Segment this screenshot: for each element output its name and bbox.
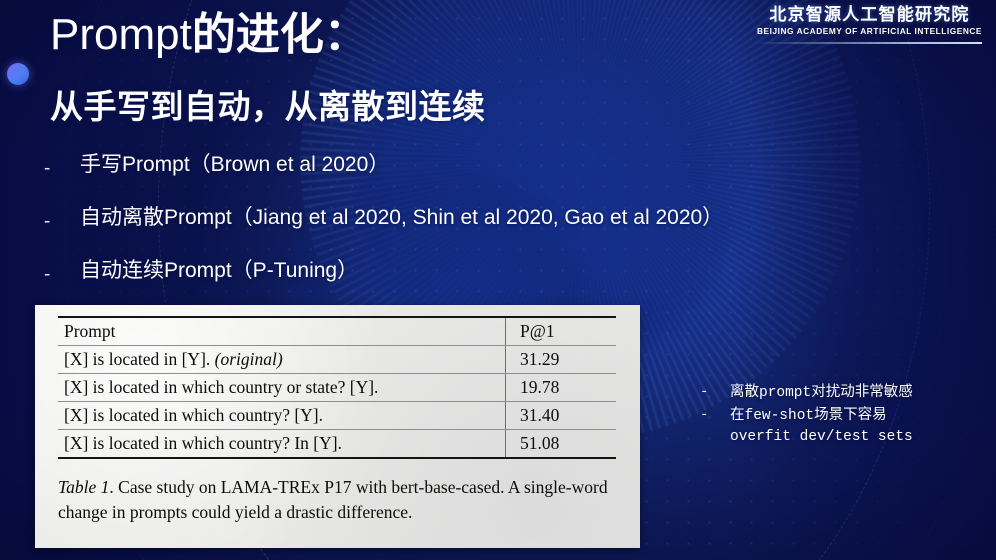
org-logo: 北京智源人工智能研究院 BEIJING ACADEMY OF ARTIFICIA…	[757, 6, 982, 35]
list-item: - 自动连续Prompt（P-Tuning）	[44, 256, 764, 309]
annotation-item: - 离散prompt对扰动非常敏感	[700, 383, 990, 404]
table-row: [X] is located in [Y]. (original) 31.29	[58, 346, 616, 374]
bullet-list: - 手写Prompt（Brown et al 2020） - 自动离散Promp…	[44, 150, 764, 309]
bullet-dash-marker: -	[44, 158, 50, 180]
table-row: [X] is located in which country or state…	[58, 374, 616, 402]
cell-prompt-text: [X] is located in which country? [Y].	[64, 405, 323, 425]
org-logo-chinese: 北京智源人工智能研究院	[757, 6, 982, 23]
column-header-p-at-1: P@1	[506, 317, 617, 346]
cell-prompt-text: [X] is located in which country or state…	[64, 377, 378, 397]
caption-label: Table 1	[58, 477, 109, 497]
accent-dot-decoration	[7, 63, 29, 85]
annotation-item: - 在few-shot场景下容易 overfit dev/test sets	[700, 406, 990, 448]
bullet-dash-marker: -	[44, 264, 50, 286]
list-item: - 手写Prompt（Brown et al 2020）	[44, 150, 764, 203]
annotation-text: 在few-shot场景下容易 overfit dev/test sets	[700, 406, 990, 448]
logo-underline-rule	[752, 42, 982, 44]
bullet-text: 自动离散Prompt（Jiang et al 2020, Shin et al …	[80, 203, 723, 233]
page-title-english: Prompt	[50, 10, 192, 59]
table-header-row: Prompt P@1	[58, 317, 616, 346]
cell-p-at-1: 31.29	[506, 346, 617, 374]
page-title-chinese: 的进化：	[192, 10, 368, 59]
cell-prompt: [X] is located in which country or state…	[58, 374, 506, 402]
table-row: [X] is located in which country? In [Y].…	[58, 430, 616, 459]
cell-p-at-1: 19.78	[506, 374, 617, 402]
column-header-prompt: Prompt	[58, 317, 506, 346]
case-study-table: Prompt P@1 [X] is located in [Y]. (origi…	[58, 316, 616, 459]
cell-p-at-1: 31.40	[506, 402, 617, 430]
bullet-text: 自动连续Prompt（P-Tuning）	[80, 256, 358, 286]
annotation-dash-marker: -	[700, 384, 708, 400]
org-logo-english: BEIJING ACADEMY OF ARTIFICIAL INTELLIGEN…	[757, 27, 982, 35]
caption-body: . Case study on LAMA-TREx P17 with bert-…	[58, 477, 608, 522]
annotation-text: 离散prompt对扰动非常敏感	[700, 383, 990, 404]
cell-prompt-text: [X] is located in [Y].	[64, 349, 215, 369]
list-item: - 自动离散Prompt（Jiang et al 2020, Shin et a…	[44, 203, 764, 256]
page-title: Prompt的进化：	[50, 12, 368, 58]
table-head: Prompt P@1	[58, 317, 616, 346]
page-subtitle: 从手写到自动，从离散到连续	[50, 80, 486, 128]
table-body: [X] is located in [Y]. (original) 31.29 …	[58, 346, 616, 459]
table-caption: Table 1. Case study on LAMA-TREx P17 wit…	[58, 475, 618, 525]
cell-prompt-italic: (original)	[215, 349, 283, 369]
annotation-dash-marker: -	[700, 407, 708, 423]
background-right-vignette	[736, 0, 996, 560]
cell-p-at-1: 51.08	[506, 430, 617, 459]
annotation-list: - 离散prompt对扰动非常敏感 - 在few-shot场景下容易 overf…	[700, 383, 990, 450]
slide-canvas: 北京智源人工智能研究院 BEIJING ACADEMY OF ARTIFICIA…	[0, 0, 996, 560]
figure-paper-panel: Prompt P@1 [X] is located in [Y]. (origi…	[35, 305, 640, 548]
cell-prompt: [X] is located in which country? [Y].	[58, 402, 506, 430]
cell-prompt-text: [X] is located in which country? In [Y].	[64, 433, 342, 453]
table-row: [X] is located in which country? [Y]. 31…	[58, 402, 616, 430]
bullet-dash-marker: -	[44, 211, 50, 233]
cell-prompt: [X] is located in which country? In [Y].	[58, 430, 506, 459]
bullet-text: 手写Prompt（Brown et al 2020）	[80, 150, 389, 180]
cell-prompt: [X] is located in [Y]. (original)	[58, 346, 506, 374]
